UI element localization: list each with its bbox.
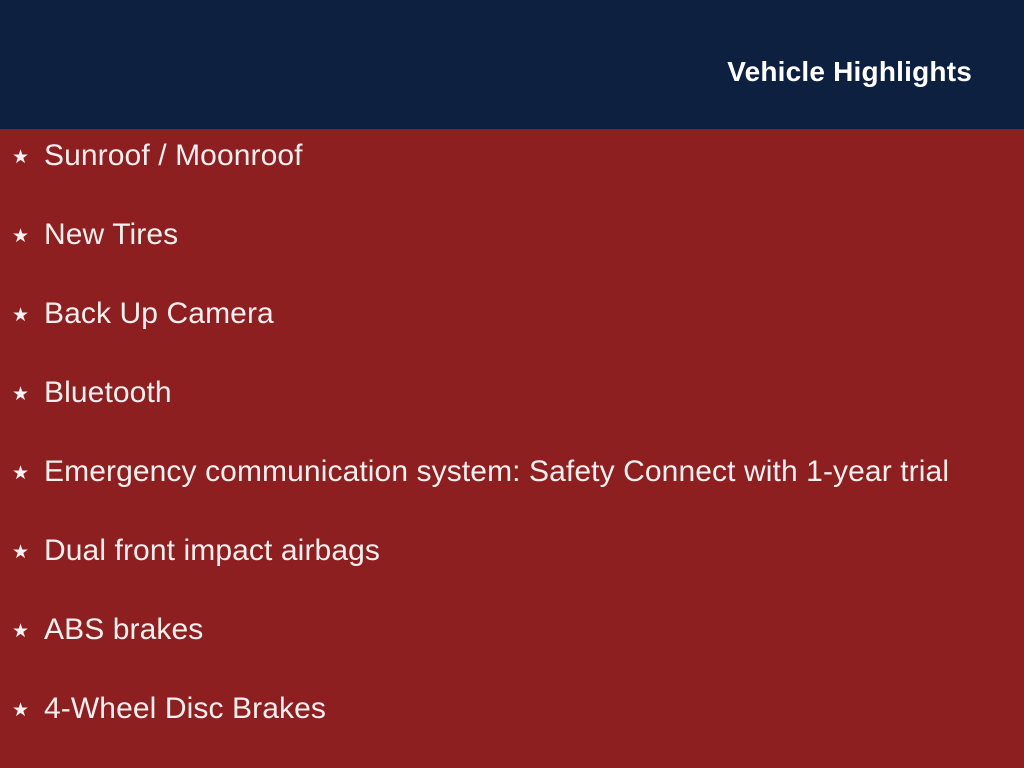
list-item-label: Sunroof / Moonroof — [44, 141, 1024, 171]
list-item-label: Dual front impact airbags — [44, 536, 1024, 566]
list-item: ★ Bluetooth — [0, 378, 1024, 457]
star-icon: ★ — [12, 464, 44, 483]
vehicle-highlights-list: ★ Sunroof / Moonroof ★ New Tires ★ Back … — [0, 141, 1024, 768]
slide-header: Vehicle Highlights — [0, 0, 1024, 129]
page-title: Vehicle Highlights — [727, 58, 972, 86]
list-item: ★ Back Up Camera — [0, 299, 1024, 378]
star-icon: ★ — [12, 543, 44, 562]
list-item-label: ABS brakes — [44, 615, 1024, 645]
star-icon: ★ — [12, 306, 44, 325]
list-item-label: Back Up Camera — [44, 299, 1024, 329]
star-icon: ★ — [12, 701, 44, 720]
list-item: ★ 4-Wheel Disc Brakes — [0, 694, 1024, 768]
star-icon: ★ — [12, 622, 44, 641]
list-item-label: Bluetooth — [44, 378, 1024, 408]
slide-body: ★ Sunroof / Moonroof ★ New Tires ★ Back … — [0, 129, 1024, 768]
list-item-label: New Tires — [44, 220, 1024, 250]
list-item: ★ Sunroof / Moonroof — [0, 141, 1024, 220]
star-icon: ★ — [12, 227, 44, 246]
list-item: ★ ABS brakes — [0, 615, 1024, 694]
list-item: ★ Dual front impact airbags — [0, 536, 1024, 615]
list-item: ★ Emergency communication system: Safety… — [0, 457, 1024, 536]
star-icon: ★ — [12, 385, 44, 404]
star-icon: ★ — [12, 148, 44, 167]
list-item-label: 4-Wheel Disc Brakes — [44, 694, 1024, 724]
list-item-label: Emergency communication system: Safety C… — [44, 457, 1024, 487]
list-item: ★ New Tires — [0, 220, 1024, 299]
vehicle-highlights-slide: Vehicle Highlights ★ Sunroof / Moonroof … — [0, 0, 1024, 768]
